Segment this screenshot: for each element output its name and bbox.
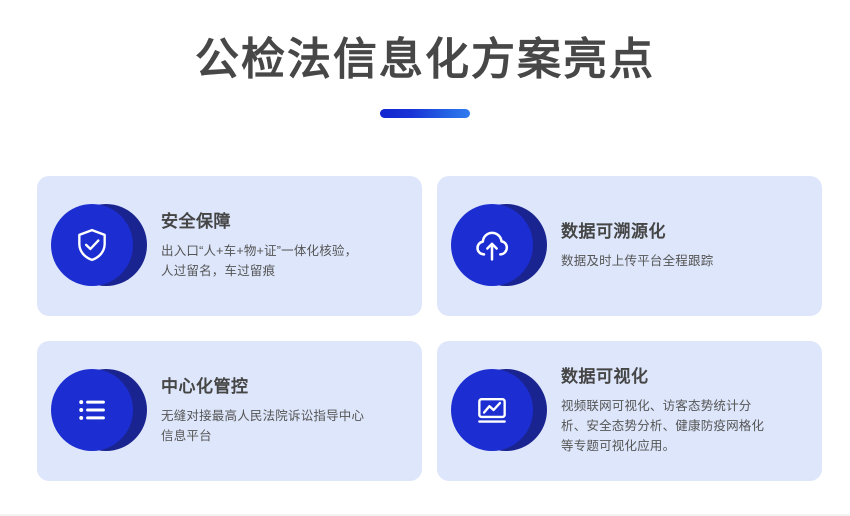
card-title: 数据可视化	[561, 366, 804, 387]
highlight-card-centralized-control[interactable]: 中心化管控 无缝对接最高人民法院诉讼指导中心信息平台	[37, 341, 422, 481]
shield-check-icon	[73, 226, 111, 264]
card-description: 视频联网可视化、访客态势统计分析、安全态势分析、健康防疫网格化等专题可视化应用。	[561, 396, 776, 457]
card-text-block: 中心化管控 无缝对接最高人民法院诉讼指导中心信息平台	[155, 376, 408, 447]
card-title: 安全保障	[161, 211, 404, 232]
page-header: 公检法信息化方案亮点	[0, 0, 850, 118]
bullet-list-icon	[73, 391, 111, 429]
card-description: 无缝对接最高人民法院诉讼指导中心信息平台	[161, 406, 376, 447]
icon-container	[451, 198, 547, 294]
highlights-page: 公检法信息化方案亮点 安全保障 出入口“人+车+物+证”一体化核	[0, 0, 850, 516]
icon-container	[51, 198, 147, 294]
card-title: 中心化管控	[161, 376, 404, 397]
icon-circle	[51, 204, 133, 286]
card-description: 出入口“人+车+物+证”一体化核验，人过留名，车过留痕	[161, 241, 361, 282]
icon-container	[51, 363, 147, 459]
card-text-block: 安全保障 出入口“人+车+物+证”一体化核验，人过留名，车过留痕	[155, 211, 408, 282]
highlight-card-data-visualization[interactable]: 数据可视化 视频联网可视化、访客态势统计分析、安全态势分析、健康防疫网格化等专题…	[437, 341, 822, 481]
icon-circle	[451, 369, 533, 451]
icon-circle	[51, 369, 133, 451]
card-description: 数据及时上传平台全程跟踪	[561, 251, 801, 271]
card-text-block: 数据可溯源化 数据及时上传平台全程跟踪	[555, 221, 808, 272]
icon-circle	[451, 204, 533, 286]
title-underline-bar	[380, 109, 470, 118]
chart-monitor-icon	[473, 391, 511, 429]
highlight-card-grid: 安全保障 出入口“人+车+物+证”一体化核验，人过留名，车过留痕	[37, 176, 822, 481]
icon-container	[451, 363, 547, 459]
cloud-upload-icon	[472, 225, 512, 265]
highlight-card-security[interactable]: 安全保障 出入口“人+车+物+证”一体化核验，人过留名，车过留痕	[37, 176, 422, 316]
page-title: 公检法信息化方案亮点	[0, 34, 850, 87]
card-title: 数据可溯源化	[561, 221, 804, 242]
card-text-block: 数据可视化 视频联网可视化、访客态势统计分析、安全态势分析、健康防疫网格化等专题…	[555, 366, 808, 457]
highlight-card-data-traceability[interactable]: 数据可溯源化 数据及时上传平台全程跟踪	[437, 176, 822, 316]
